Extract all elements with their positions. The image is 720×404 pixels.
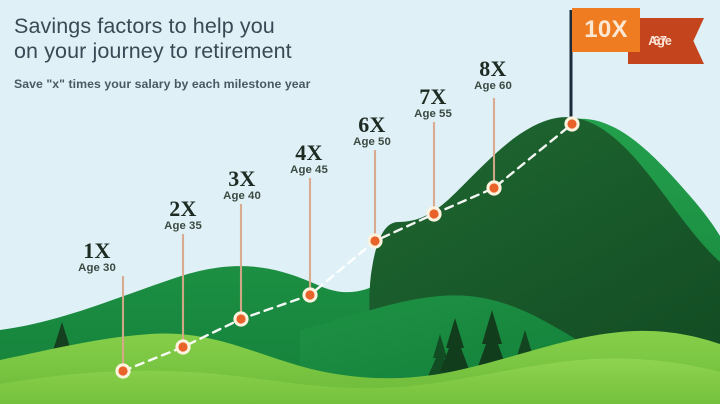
milestone-label-age-40: 3X Age 40 <box>211 168 273 203</box>
infographic-canvas: Savings factors to help you on your jour… <box>0 0 720 404</box>
retirement-flag: Age 67 10X <box>572 8 718 66</box>
dot-age-45 <box>302 287 317 302</box>
page-subtitle: Save "x" times your salary by each miles… <box>14 77 310 91</box>
milestone-age-50: Age 50 <box>341 136 403 149</box>
milestone-multiple-3x: 3X <box>211 168 273 189</box>
milestone-age-45: Age 45 <box>278 164 340 177</box>
dot-age-30 <box>115 363 130 378</box>
milestone-label-age-55: 7X Age 55 <box>402 86 464 121</box>
milestone-age-30: Age 30 <box>66 262 128 275</box>
page-title: Savings factors to help you on your jour… <box>14 14 310 64</box>
milestone-label-age-30: 1X Age 30 <box>66 240 128 275</box>
milestone-multiple-2x: 2X <box>152 198 214 219</box>
milestone-age-40: Age 40 <box>211 190 273 203</box>
milestone-age-55: Age 55 <box>402 108 464 121</box>
milestone-label-age-60: 8X Age 60 <box>462 58 524 93</box>
dot-age-40 <box>233 311 248 326</box>
milestone-multiple-6x: 6X <box>341 114 403 135</box>
milestone-age-60: Age 60 <box>462 80 524 93</box>
dot-age-55 <box>426 206 441 221</box>
milestone-label-age-45: 4X Age 45 <box>278 142 340 177</box>
milestone-label-age-50: 6X Age 50 <box>341 114 403 149</box>
dot-age-50 <box>367 233 382 248</box>
milestone-multiple-1x: 1X <box>66 240 128 261</box>
milestone-multiple-7x: 7X <box>402 86 464 107</box>
milestone-label-age-35: 2X Age 35 <box>152 198 214 233</box>
dot-age-35 <box>175 339 190 354</box>
dot-age-67 <box>564 116 579 131</box>
flag-multiple-text: 10X <box>572 8 640 52</box>
milestone-age-35: Age 35 <box>152 220 214 233</box>
milestone-multiple-8x: 8X <box>462 58 524 79</box>
milestone-multiple-4x: 4X <box>278 142 340 163</box>
flag-multiple-banner: 10X <box>572 8 640 52</box>
header-block: Savings factors to help you on your jour… <box>14 14 310 91</box>
dot-age-60 <box>486 180 501 195</box>
